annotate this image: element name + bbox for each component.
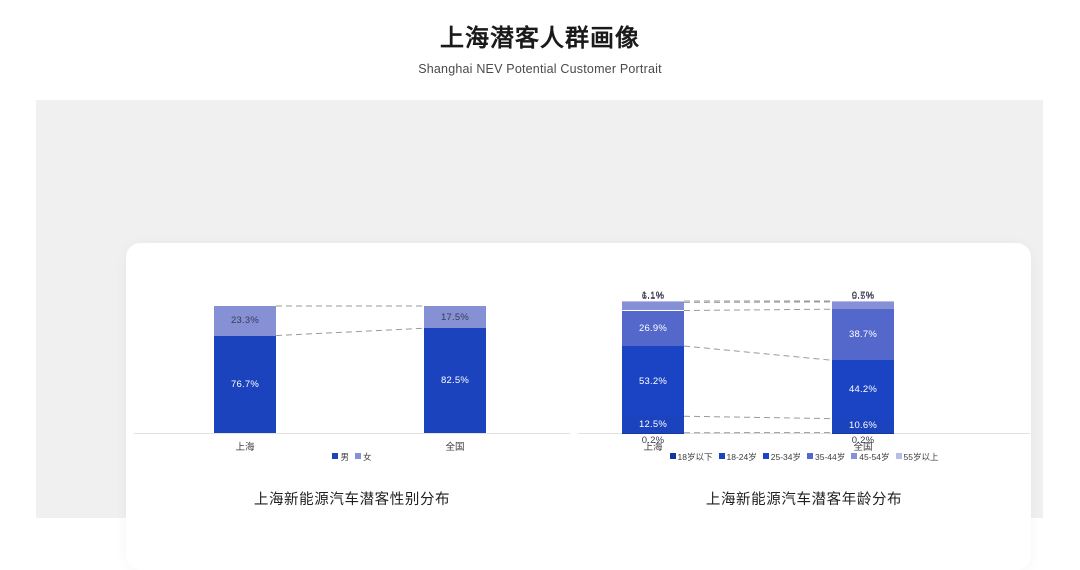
legend-swatch-icon <box>851 453 857 459</box>
bar-segment-label: 44.2% <box>849 384 877 395</box>
legend-item[interactable]: 男 <box>332 451 349 463</box>
legend-label: 18岁以下 <box>678 452 713 462</box>
legend-label: 35-44岁 <box>815 452 845 462</box>
age-chart: 1.1%6.1%26.9%53.2%12.5%0.2%上海0.7%5.5%38.… <box>578 243 1030 570</box>
bar-segment[interactable]: 44.2% <box>832 360 894 418</box>
content-panel: 23.3%76.7%上海17.5%82.5%全国 男女 上海新能源汽车潜客性别分… <box>36 100 1043 518</box>
bar-segment-label: 26.9% <box>639 323 667 334</box>
legend-item[interactable]: 18岁以下 <box>670 451 713 463</box>
bar-segment[interactable]: 10.6% <box>832 419 894 433</box>
bar-segment[interactable]: 38.7% <box>832 309 894 360</box>
legend-swatch-icon <box>670 453 676 459</box>
legend-label: 18-24岁 <box>727 452 757 462</box>
legend-label: 女 <box>363 452 372 462</box>
legend-label: 25-34岁 <box>771 452 801 462</box>
gender-chart-caption: 上海新能源汽车潜客性别分布 <box>126 488 578 509</box>
gender-chart: 23.3%76.7%上海17.5%82.5%全国 男女 上海新能源汽车潜客性别分… <box>126 243 578 570</box>
page-subtitle: Shanghai NEV Potential Customer Portrait <box>0 60 1080 78</box>
legend-swatch-icon <box>332 453 338 459</box>
legend-item[interactable]: 女 <box>355 451 372 463</box>
bar-segment[interactable]: 12.5% <box>622 416 684 433</box>
legend-item[interactable]: 45-54岁 <box>851 451 889 463</box>
bar-segment-label: 82.5% <box>441 375 469 386</box>
bar-segment-label: 23.3% <box>231 315 259 326</box>
legend-item[interactable]: 25-34岁 <box>763 451 801 463</box>
charts-row: 23.3%76.7%上海17.5%82.5%全国 男女 上海新能源汽车潜客性别分… <box>126 243 1031 570</box>
bar-segment[interactable]: 23.3% <box>214 306 276 336</box>
legend-item[interactable]: 18-24岁 <box>719 451 757 463</box>
bar-segment-label: 5.5% <box>832 291 894 302</box>
chart-axis-line <box>134 433 570 434</box>
legend-swatch-icon <box>355 453 361 459</box>
bar-segment-label: 76.7% <box>231 379 259 390</box>
slide-page: 上海潜客人群画像 Shanghai NEV Potential Customer… <box>0 0 1080 547</box>
age-chart-caption: 上海新能源汽车潜客年龄分布 <box>578 488 1030 509</box>
stacked-bar[interactable]: 23.3%76.7% <box>214 306 276 433</box>
bar-segment-label: 12.5% <box>639 419 667 430</box>
bar-segment[interactable]: 53.2% <box>622 346 684 416</box>
bar-segment[interactable]: 6.1% <box>622 302 684 310</box>
bar-segment-label: 6.1% <box>622 291 684 302</box>
bar-segment-label: 10.6% <box>849 420 877 431</box>
legend-label: 45-54岁 <box>859 452 889 462</box>
legend-item[interactable]: 35-44岁 <box>807 451 845 463</box>
bar-segment-label: 53.2% <box>639 376 667 387</box>
bar-segment-label: 17.5% <box>441 312 469 323</box>
bar-segment[interactable]: 82.5% <box>424 328 486 433</box>
charts-card: 23.3%76.7%上海17.5%82.5%全国 男女 上海新能源汽车潜客性别分… <box>126 243 1031 570</box>
bar-segment[interactable]: 17.5% <box>424 306 486 328</box>
legend-label: 55岁以上 <box>904 452 939 462</box>
legend-swatch-icon <box>719 453 725 459</box>
gender-legend: 男女 <box>126 451 578 463</box>
bar-segment[interactable]: 5.5% <box>832 302 894 309</box>
legend-item[interactable]: 55岁以上 <box>896 451 939 463</box>
legend-swatch-icon <box>763 453 769 459</box>
header: 上海潜客人群画像 Shanghai NEV Potential Customer… <box>0 24 1080 78</box>
page-title: 上海潜客人群画像 <box>0 24 1080 54</box>
age-legend: 18岁以下18-24岁25-34岁35-44岁45-54岁55岁以上 <box>578 451 1030 463</box>
stacked-bar[interactable]: 0.7%5.5%38.7%44.2%10.6%0.2% <box>832 301 894 433</box>
legend-swatch-icon <box>896 453 902 459</box>
bar-segment-label: 38.7% <box>849 329 877 340</box>
stacked-bar[interactable]: 1.1%6.1%26.9%53.2%12.5%0.2% <box>622 301 684 433</box>
legend-swatch-icon <box>807 453 813 459</box>
bar-segment[interactable]: 76.7% <box>214 336 276 433</box>
legend-label: 男 <box>340 452 349 462</box>
bar-segment[interactable]: 26.9% <box>622 311 684 347</box>
stacked-bar[interactable]: 17.5%82.5% <box>424 306 486 433</box>
